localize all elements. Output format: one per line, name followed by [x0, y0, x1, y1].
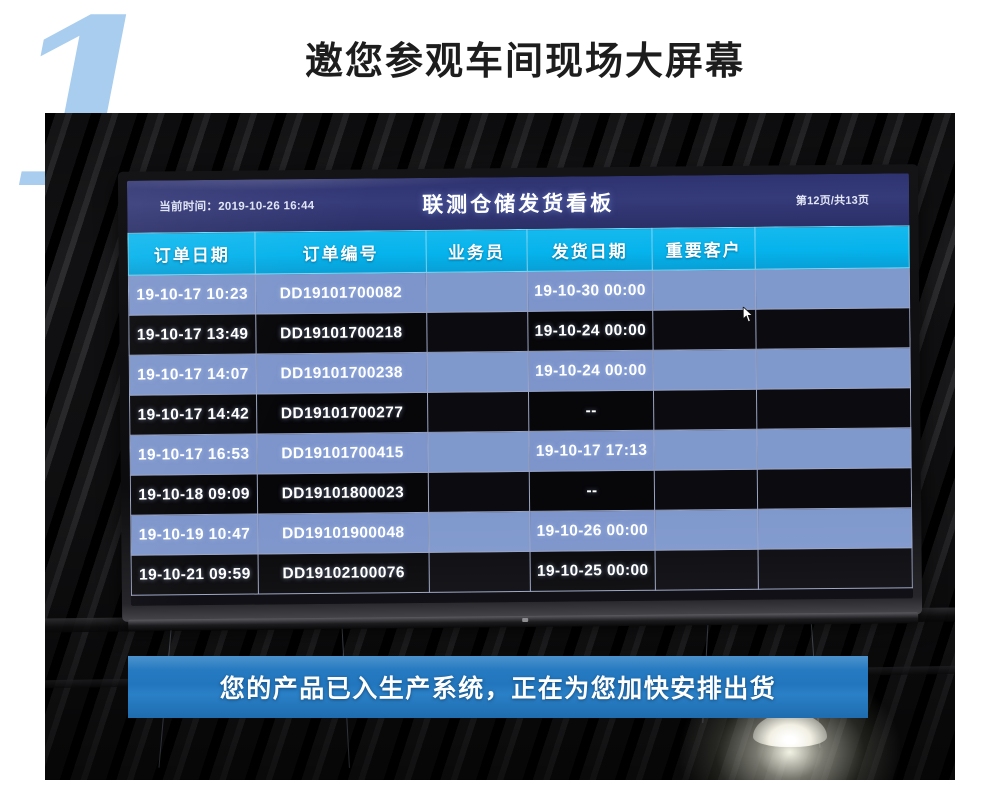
cell-ship-date: 19-10-24 00:00: [528, 310, 653, 351]
cell-order-no: DD19101700415: [257, 432, 428, 474]
cell-order-date: 19-10-19 10:47: [131, 514, 259, 555]
cell-key-customer: [652, 269, 755, 310]
cell-salesperson: [427, 391, 529, 432]
page-headline: 邀您参观车间现场大屏幕: [0, 30, 1000, 85]
column-header-ship-date: 发货日期: [527, 228, 652, 271]
cell-order-no: DD19101700238: [256, 352, 427, 394]
cell-salesperson: [426, 311, 528, 352]
table-row: 19-10-21 09:59 DD19102100076 19-10-25 00…: [131, 548, 912, 595]
cell-order-no: DD19101800023: [258, 472, 429, 514]
current-time-label: 当前时间：2019-10-26 16:44: [159, 197, 314, 214]
column-header-salesperson: 业务员: [425, 229, 527, 272]
cell-order-date: 19-10-21 09:59: [131, 554, 259, 595]
cell-order-date: 19-10-18 09:09: [130, 474, 258, 515]
cell-ship-date: --: [529, 470, 654, 511]
table-header-row: 订单日期 订单编号 业务员 发货日期 重要客户: [128, 226, 909, 275]
cell-extra: [758, 548, 912, 589]
dashboard-header-bar: 当前时间：2019-10-26 16:44 联测仓储发货看板 第12页/共13页: [127, 173, 909, 233]
cell-salesperson: [428, 471, 530, 512]
cell-key-customer: [653, 349, 756, 390]
cell-ship-date: 19-10-17 17:13: [529, 430, 654, 471]
cell-order-date: 19-10-17 16:53: [130, 434, 258, 475]
cell-order-no: DD19101700277: [257, 392, 428, 434]
cell-key-customer: [653, 389, 756, 430]
cell-salesperson: [428, 511, 530, 552]
cell-extra: [757, 428, 911, 469]
lamp-shade: [753, 713, 827, 747]
cell-ship-date: --: [529, 390, 654, 431]
cell-ship-date: 19-10-24 00:00: [528, 350, 653, 391]
cell-extra: [758, 508, 912, 549]
cell-key-customer: [654, 429, 757, 470]
tv-bezel: 当前时间：2019-10-26 16:44 联测仓储发货看板 第12页/共13页…: [118, 164, 922, 622]
cell-key-customer: [655, 509, 758, 550]
promo-banner-text: 您的产品已入生产系统，正在为您加快安排出货: [220, 669, 777, 705]
cell-order-no: DD19101900048: [258, 512, 429, 554]
cell-key-customer: [654, 469, 757, 510]
promo-banner: 您的产品已入生产系统，正在为您加快安排出货: [128, 656, 868, 718]
cell-ship-date: 19-10-30 00:00: [527, 270, 652, 311]
column-header-extra: [755, 226, 909, 269]
column-header-order-no: 订单编号: [255, 230, 426, 274]
cell-salesperson: [427, 351, 529, 392]
cell-order-date: 19-10-17 13:49: [129, 314, 257, 355]
tv-power-led: [522, 618, 528, 622]
column-header-order-date: 订单日期: [128, 232, 256, 275]
cell-extra: [756, 308, 910, 349]
page-indicator: 第12页/共13页: [796, 192, 869, 209]
pendant-lamp: [735, 713, 845, 775]
cell-order-date: 19-10-17 10:23: [128, 274, 256, 315]
cell-extra: [756, 348, 910, 389]
promo-page: 1 邀您参观车间现场大屏幕 当前时间：2019-10-26 16:44 联测仓储…: [0, 0, 1000, 798]
cell-key-customer: [653, 309, 756, 350]
cell-order-no: DD19102100076: [258, 552, 429, 594]
cell-key-customer: [655, 549, 758, 590]
cell-salesperson: [426, 271, 528, 312]
cell-extra: [757, 388, 911, 429]
cell-extra: [755, 268, 909, 309]
cell-order-date: 19-10-17 14:42: [130, 394, 258, 435]
shipment-table: 订单日期 订单编号 业务员 发货日期 重要客户 19-10-17 10:23: [127, 225, 912, 595]
cell-salesperson: [429, 551, 531, 592]
tv-screen: 当前时间：2019-10-26 16:44 联测仓储发货看板 第12页/共13页…: [127, 173, 913, 605]
cell-order-date: 19-10-17 14:07: [129, 354, 257, 395]
cell-salesperson: [427, 431, 529, 472]
cell-extra: [757, 468, 911, 509]
cell-ship-date: 19-10-25 00:00: [530, 550, 655, 591]
cell-order-no: DD19101700218: [256, 312, 427, 354]
wall-mounted-tv: 当前时间：2019-10-26 16:44 联测仓储发货看板 第12页/共13页…: [118, 164, 922, 622]
cell-ship-date: 19-10-26 00:00: [530, 510, 655, 551]
column-header-key-customer: 重要客户: [652, 227, 755, 270]
cell-order-no: DD19101700082: [256, 272, 427, 314]
